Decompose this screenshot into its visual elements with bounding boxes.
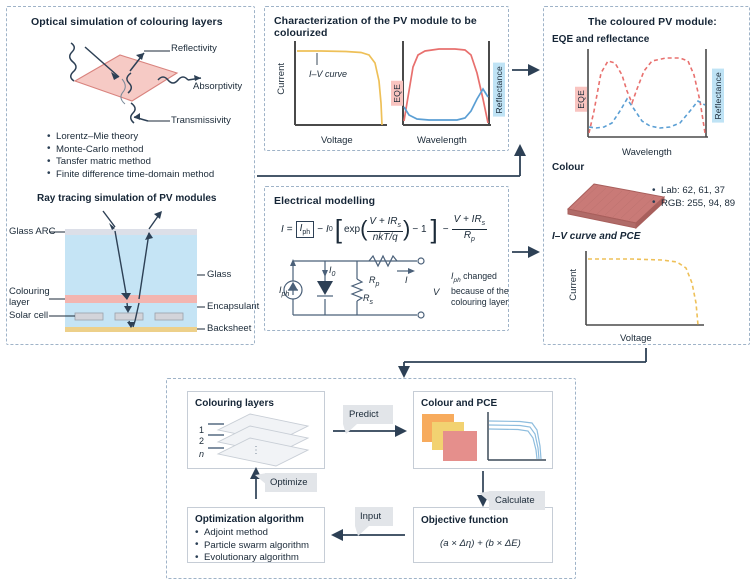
tag-optimize-tail (255, 473, 267, 487)
panel-optimization-loop: Colouring layers 1 2 n ⋮ Colour and PCE (166, 378, 576, 579)
tag-input: Input (355, 507, 393, 526)
tag-calculate: Calculate (489, 491, 545, 510)
tag-calculate-label: Calculate (495, 495, 535, 506)
tag-optimize: Optimize (265, 473, 317, 492)
tag-predict-label: Predict (349, 409, 379, 420)
tag-calculate-tail (479, 491, 491, 505)
tag-input-label: Input (360, 511, 381, 522)
tag-predict: Predict (343, 405, 393, 424)
tag-input-tail (355, 526, 373, 536)
tag-optimize-label: Optimize (270, 477, 307, 488)
tag-predict-tail (343, 424, 361, 434)
